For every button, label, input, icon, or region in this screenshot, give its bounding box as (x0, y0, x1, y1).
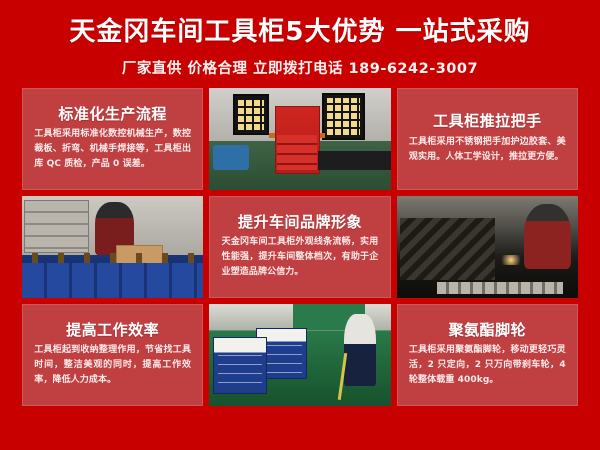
blue-bins (22, 263, 203, 298)
advantage-card-brand-image[interactable]: 提升车间品牌形象 天金冈车间工具柜外观线条流畅，实用性能强，提升车间整体档次，有… (209, 196, 390, 298)
card-title: 提高工作效率 (66, 322, 159, 339)
photo-image (209, 304, 390, 406)
photo-green-floor-workshop-cabinets (209, 304, 390, 406)
parts-rack (400, 218, 494, 279)
photo-cnc-workshop-red-cabinet (209, 88, 390, 190)
photo-image (209, 88, 390, 190)
blue-drum (213, 145, 249, 169)
card-body: 天金冈车间工具柜外观线条流畅，实用性能强，提升车间整体档次，有助于企业塑造品牌公… (222, 235, 379, 280)
spark-glow (498, 255, 523, 265)
card-body: 工具柜采用不锈钢把手加护边胶套、美观实用。人体工学设计，推拉更方便。 (409, 135, 566, 165)
card-title: 工具柜推拉把手 (433, 113, 542, 130)
advantages-grid: 标准化生产流程 工具柜采用标准化数控机械生产，数控裁板、折弯、机械手焊接等，工具… (0, 88, 600, 450)
photo-machining-line-worker (397, 196, 578, 298)
advantage-card-pull-handle[interactable]: 工具柜推拉把手 工具柜采用不锈钢把手加护边胶套、美观实用。人体工学设计，推拉更方… (397, 88, 578, 190)
worker-figure (344, 314, 377, 385)
photo-image (22, 196, 203, 298)
storage-shelf (24, 200, 89, 253)
poster-header: 天金冈车间工具柜5大优势 一站式采购 厂家直供 价格合理 立即拨打电话 189-… (0, 0, 600, 88)
advantage-card-polyurethane-casters[interactable]: 聚氨酯脚轮 工具柜采用聚氨酯脚轮，移动更轻巧灵活，2 只定向，2 只万向带刹车轮… (397, 304, 578, 406)
photo-worker-packing-blue-bins (22, 196, 203, 298)
card-body: 工具柜采用聚氨酯脚轮，移动更轻巧灵活，2 只定向，2 只万向带刹车轮，4 轮整体… (409, 343, 566, 388)
metal-bars (437, 282, 564, 294)
page-title: 天金冈车间工具柜5大优势 一站式采购 (20, 18, 580, 48)
red-tool-cabinet (275, 106, 320, 173)
promo-poster: 天金冈车间工具柜5大优势 一站式采购 厂家直供 价格合理 立即拨打电话 189-… (0, 0, 600, 450)
card-title: 标准化生产流程 (58, 106, 167, 123)
page-subtitle: 厂家直供 价格合理 立即拨打电话 189-6242-3007 (20, 57, 580, 78)
advantage-card-work-efficiency[interactable]: 提高工作效率 工具柜起到收纳整理作用，节省找工具时间，整洁美观的同时，提高工作效… (22, 304, 203, 406)
machine-window-left-icon (233, 94, 269, 135)
worker-figure (524, 204, 571, 269)
card-title: 聚氨酯脚轮 (449, 322, 527, 339)
machine-window-right-icon (322, 93, 366, 140)
advantage-card-standard-production[interactable]: 标准化生产流程 工具柜采用标准化数控机械生产，数控裁板、折弯、机械手焊接等，工具… (22, 88, 203, 190)
card-title: 提升车间品牌形象 (238, 214, 362, 231)
machine-base (318, 151, 391, 169)
card-body: 工具柜起到收纳整理作用，节省找工具时间，整洁美观的同时，提高工作效率，降低人力成… (34, 343, 191, 388)
card-body: 工具柜采用标准化数控机械生产，数控裁板、折弯、机械手焊接等，工具柜出库 QC 质… (34, 127, 191, 172)
tool-cabinet-front (213, 337, 267, 394)
photo-image (397, 196, 578, 298)
